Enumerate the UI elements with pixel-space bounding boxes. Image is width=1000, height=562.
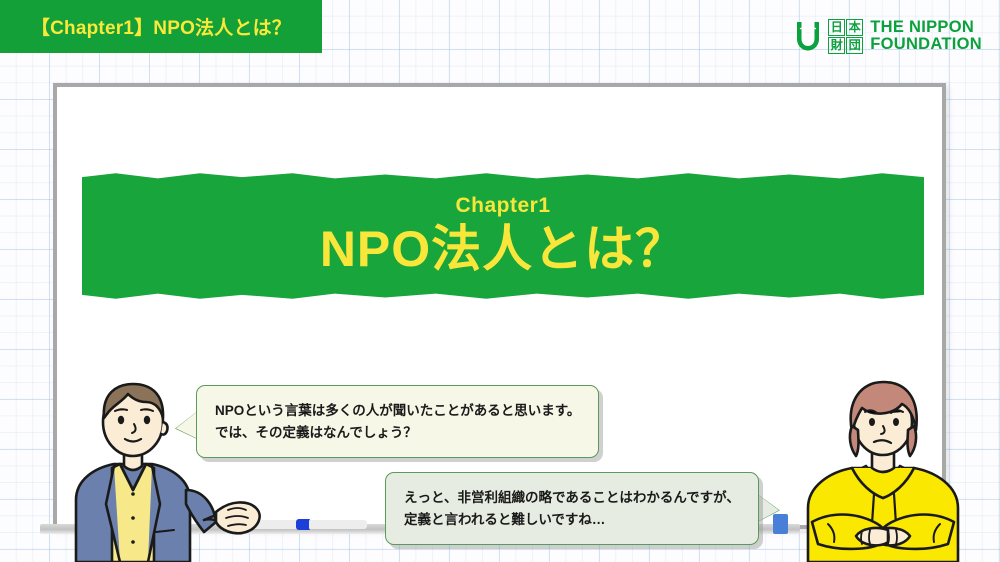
character-male-teacher	[28, 372, 268, 562]
bubble-line: 定義と言われると難しいですね…	[404, 509, 740, 531]
bubble-line: えっと、非営利組織の略であることはわかるんですが、	[404, 487, 740, 509]
slide-canvas: 【Chapter1】NPO法人とは？ 日 本 財 団 THE NIPPON FO…	[0, 0, 1000, 562]
chapter-title-block: Chapter1 NPO法人とは？	[82, 172, 924, 300]
blue-marker-body	[309, 520, 367, 529]
bubble-line: では、その定義はなんでしょう？	[215, 422, 580, 444]
logo-kanji-2: 財	[828, 37, 845, 54]
logo-kanji-3: 団	[846, 37, 863, 54]
speech-bubble-student: えっと、非営利組織の略であることはわかるんですが、 定義と言われると難しいですね…	[385, 472, 759, 545]
header-banner-text: 【Chapter1】NPO法人とは？	[31, 13, 291, 40]
bubble-body: えっと、非営利組織の略であることはわかるんですが、 定義と言われると難しいですね…	[385, 472, 759, 545]
blue-marker-cap	[296, 519, 310, 530]
logo-kanji-grid: 日 本 財 団	[828, 19, 863, 54]
bubble-line: NPOという言葉は多くの人が聞いたことがあると思います。	[215, 400, 580, 422]
logo-wordmark: THE NIPPON FOUNDATION	[870, 19, 982, 54]
blue-marker	[296, 519, 368, 530]
chapter-label: Chapter1	[455, 194, 550, 218]
logo-wordmark-line1: THE NIPPON	[870, 19, 982, 37]
page-title: NPO法人とは？	[320, 220, 686, 278]
foundation-face-icon	[793, 19, 823, 53]
logo-wordmark-line2: FOUNDATION	[870, 36, 982, 54]
character-female-student	[782, 372, 992, 562]
nippon-foundation-logo: 日 本 財 団 THE NIPPON FOUNDATION	[793, 17, 982, 55]
logo-kanji-1: 本	[846, 19, 863, 36]
logo-kanji-0: 日	[828, 19, 845, 36]
header-banner: 【Chapter1】NPO法人とは？	[0, 0, 322, 53]
